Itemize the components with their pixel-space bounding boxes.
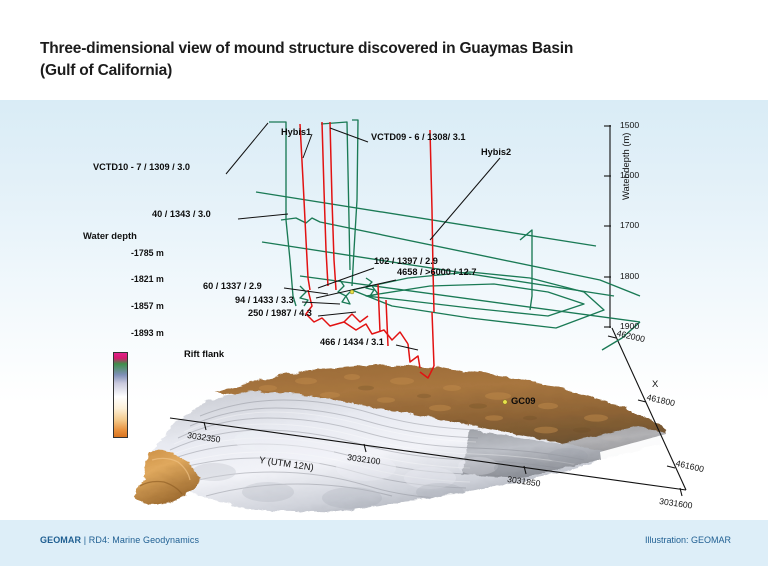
footer-separator: | <box>81 535 89 545</box>
track-hybis2-green <box>520 230 532 310</box>
page-title-line-1: Three-dimensional view of mound structur… <box>40 38 690 60</box>
dive-spike-2 <box>386 300 388 346</box>
track-red-2 <box>322 122 328 286</box>
page-title: Three-dimensional view of mound structur… <box>40 38 690 82</box>
title-block: Three-dimensional view of mound structur… <box>0 0 768 100</box>
footer-bar: GEOMAR | RD4: Marine Geodynamics Illustr… <box>0 520 768 566</box>
annotation-60: 60 / 1337 / 2.9 <box>203 282 262 291</box>
annotation-4658: 4658 / >6000 / 12.7 <box>397 268 476 277</box>
dive-path-mound-b <box>344 314 368 322</box>
figure-canvas: Water depth -1785 m -1821 m -1857 m -189… <box>0 100 768 520</box>
track-hybis1 <box>300 124 310 290</box>
x-axis-title: X <box>652 378 658 389</box>
track-cluster-3 <box>300 286 308 306</box>
depth-tick-1500: 1500 <box>620 120 639 130</box>
leader-hybis2 <box>430 158 500 240</box>
colorbar-gradient <box>113 352 128 438</box>
annotation-vctd09: VCTD09 - 6 / 1308/ 3.1 <box>371 133 465 142</box>
dive-path-mound <box>306 290 408 344</box>
track-hybis2-red <box>430 130 434 312</box>
dive-spike-3 <box>408 344 420 368</box>
feature-gc09: GC09 <box>511 395 536 406</box>
dive-spike-1 <box>378 284 380 332</box>
leader-vctd09 <box>330 128 368 142</box>
annotation-250: 250 / 1987 / 4.3 <box>248 309 312 318</box>
colorbar-tick-3: -1893 m <box>131 328 164 338</box>
station-marker-crest <box>350 290 354 294</box>
depth-axis-title: Water depth (m) <box>620 133 631 200</box>
leader-hybis1 <box>303 134 312 158</box>
track-cluster-2 <box>366 278 378 296</box>
track-red-3 <box>330 122 336 290</box>
footer-attribution: GEOMAR | RD4: Marine Geodynamics <box>40 535 199 545</box>
gc09-marker <box>503 400 507 404</box>
leader-94 <box>302 302 340 304</box>
depth-tick-1800: 1800 <box>620 271 639 281</box>
annotation-hybis1: Hybis1 <box>281 128 311 137</box>
footer-department: RD4: Marine Geodynamics <box>89 535 199 545</box>
leader-vctd10 <box>226 123 268 174</box>
leader-466 <box>396 345 418 350</box>
colorbar-title: Water depth <box>83 230 137 241</box>
colorbar-tick-0: -1785 m <box>131 248 164 258</box>
annotation-vctd10: VCTD10 - 7 / 1309 / 3.0 <box>93 163 190 172</box>
leader-40 <box>238 214 288 219</box>
annotation-94: 94 / 1433 / 3.3 <box>235 296 294 305</box>
annotation-466: 466 / 1434 / 3.1 <box>320 338 384 347</box>
footer-brand: GEOMAR <box>40 535 81 545</box>
colorbar-tick-1: -1821 m <box>131 274 164 284</box>
annotation-102: 102 / 1397 / 2.9 <box>374 257 438 266</box>
figure-page: Three-dimensional view of mound structur… <box>0 0 768 566</box>
annotation-hybis2: Hybis2 <box>481 148 511 157</box>
depth-tick-1700: 1700 <box>620 220 639 230</box>
survey-track-lines <box>256 120 640 350</box>
track-40 <box>281 218 640 296</box>
annotation-40: 40 / 1343 / 3.0 <box>152 210 211 219</box>
footer-credit: Illustration: GEOMAR <box>645 535 731 545</box>
swath-1 <box>256 192 596 246</box>
dive-spike-4 <box>432 312 434 366</box>
track-vctd09 <box>352 120 358 286</box>
colorbar-tick-2: -1857 m <box>131 301 164 311</box>
leader-60 <box>284 288 328 294</box>
page-title-line-2: (Gulf of California) <box>40 60 690 82</box>
feature-rift-flank: Rift flank <box>184 348 224 359</box>
track-vctd10 <box>269 122 296 306</box>
